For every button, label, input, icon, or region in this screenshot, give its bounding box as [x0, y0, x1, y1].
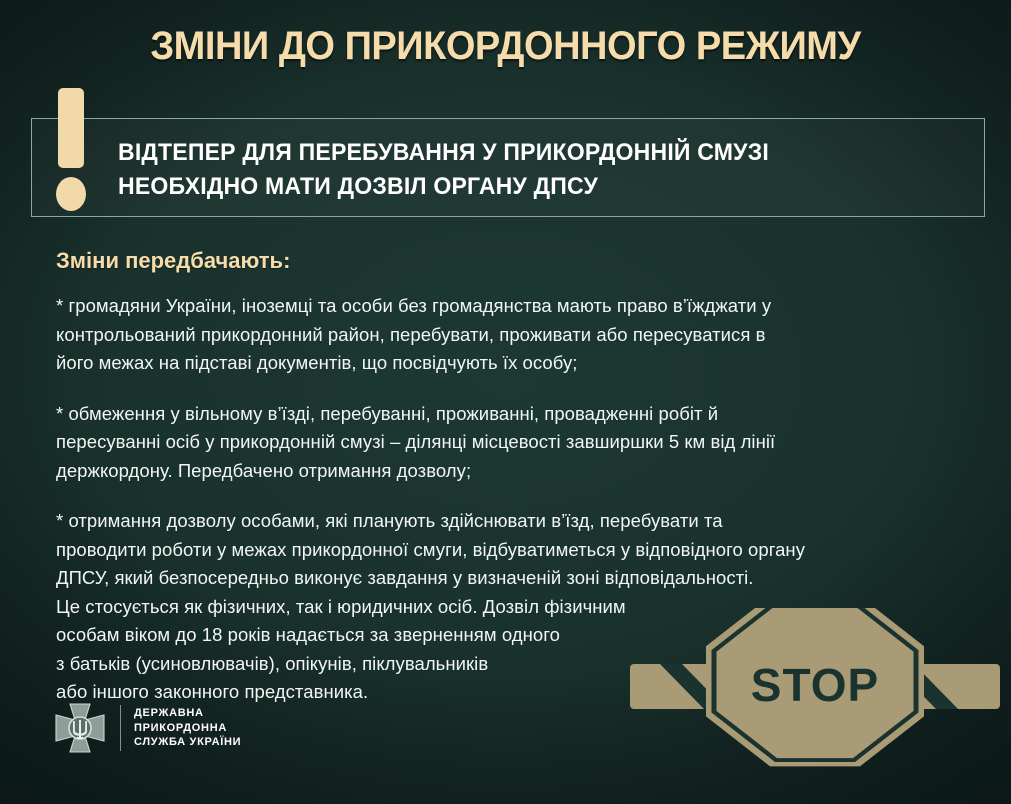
- logo-line-3: СЛУЖБА УКРАЇНИ: [134, 735, 241, 750]
- paragraph-line: * обмеження у вільному в’їзді, перебуван…: [56, 400, 956, 429]
- banner-line-2: НЕОБХІДНО МАТИ ДОЗВІЛ ОРГАНУ ДПСУ: [118, 170, 905, 204]
- paragraph-line: його межах на підставі документів, що по…: [56, 349, 956, 378]
- paragraph-line: проводити роботи у межах прикордонної см…: [56, 536, 956, 565]
- paragraph-line: держкордону. Передбачено отримання дозво…: [56, 457, 956, 486]
- body-content: * громадяни України, іноземці та особи б…: [56, 292, 956, 707]
- exclamation-mark-icon: [58, 88, 86, 211]
- paragraph-line: ДПСУ, який безпосередньо виконує завданн…: [56, 564, 956, 593]
- logo-line-1: ДЕРЖАВНА: [134, 706, 241, 721]
- paragraph-line: Це стосується як фізичних, так і юридичн…: [56, 593, 956, 622]
- paragraph-line: пересуванні осіб у прикордонній смузі – …: [56, 428, 956, 457]
- logo-divider: [120, 705, 121, 751]
- paragraph-line: * громадяни України, іноземці та особи б…: [56, 292, 956, 321]
- agency-logo: ДЕРЖАВНА ПРИКОРДОННА СЛУЖБА УКРАЇНИ: [52, 700, 241, 756]
- paragraph-line: з батьків (усиновлювачів), опікунів, пік…: [56, 650, 956, 679]
- body-paragraph: * громадяни України, іноземці та особи б…: [56, 292, 956, 378]
- logo-line-2: ПРИКОРДОННА: [134, 721, 241, 736]
- paragraph-line: * отримання дозволу особами, які плануют…: [56, 507, 956, 536]
- paragraph-line: контрольований прикордонний район, переб…: [56, 321, 956, 350]
- border-guard-cross-icon: [52, 700, 108, 756]
- body-heading: Зміни передбачають:: [56, 248, 290, 274]
- page-title: ЗМІНИ ДО ПРИКОРДОННОГО РЕЖИМУ: [25, 24, 985, 69]
- banner-line-1: ВІДТЕПЕР ДЛЯ ПЕРЕБУВАННЯ У ПРИКОРДОННІЙ …: [118, 136, 905, 170]
- infographic-poster: ЗМІНИ ДО ПРИКОРДОННОГО РЕЖИМУ ВІДТЕПЕР Д…: [0, 0, 1011, 804]
- body-paragraph: * обмеження у вільному в’їзді, перебуван…: [56, 400, 956, 486]
- banner-text: ВІДТЕПЕР ДЛЯ ПЕРЕБУВАННЯ У ПРИКОРДОННІЙ …: [118, 136, 905, 204]
- body-paragraph: * отримання дозволу особами, які плануют…: [56, 507, 956, 707]
- logo-text: ДЕРЖАВНА ПРИКОРДОННА СЛУЖБА УКРАЇНИ: [134, 706, 241, 750]
- exclamation-bar: [58, 88, 84, 168]
- paragraph-line: особам віком до 18 років надається за зв…: [56, 621, 956, 650]
- exclamation-dot: [56, 177, 86, 211]
